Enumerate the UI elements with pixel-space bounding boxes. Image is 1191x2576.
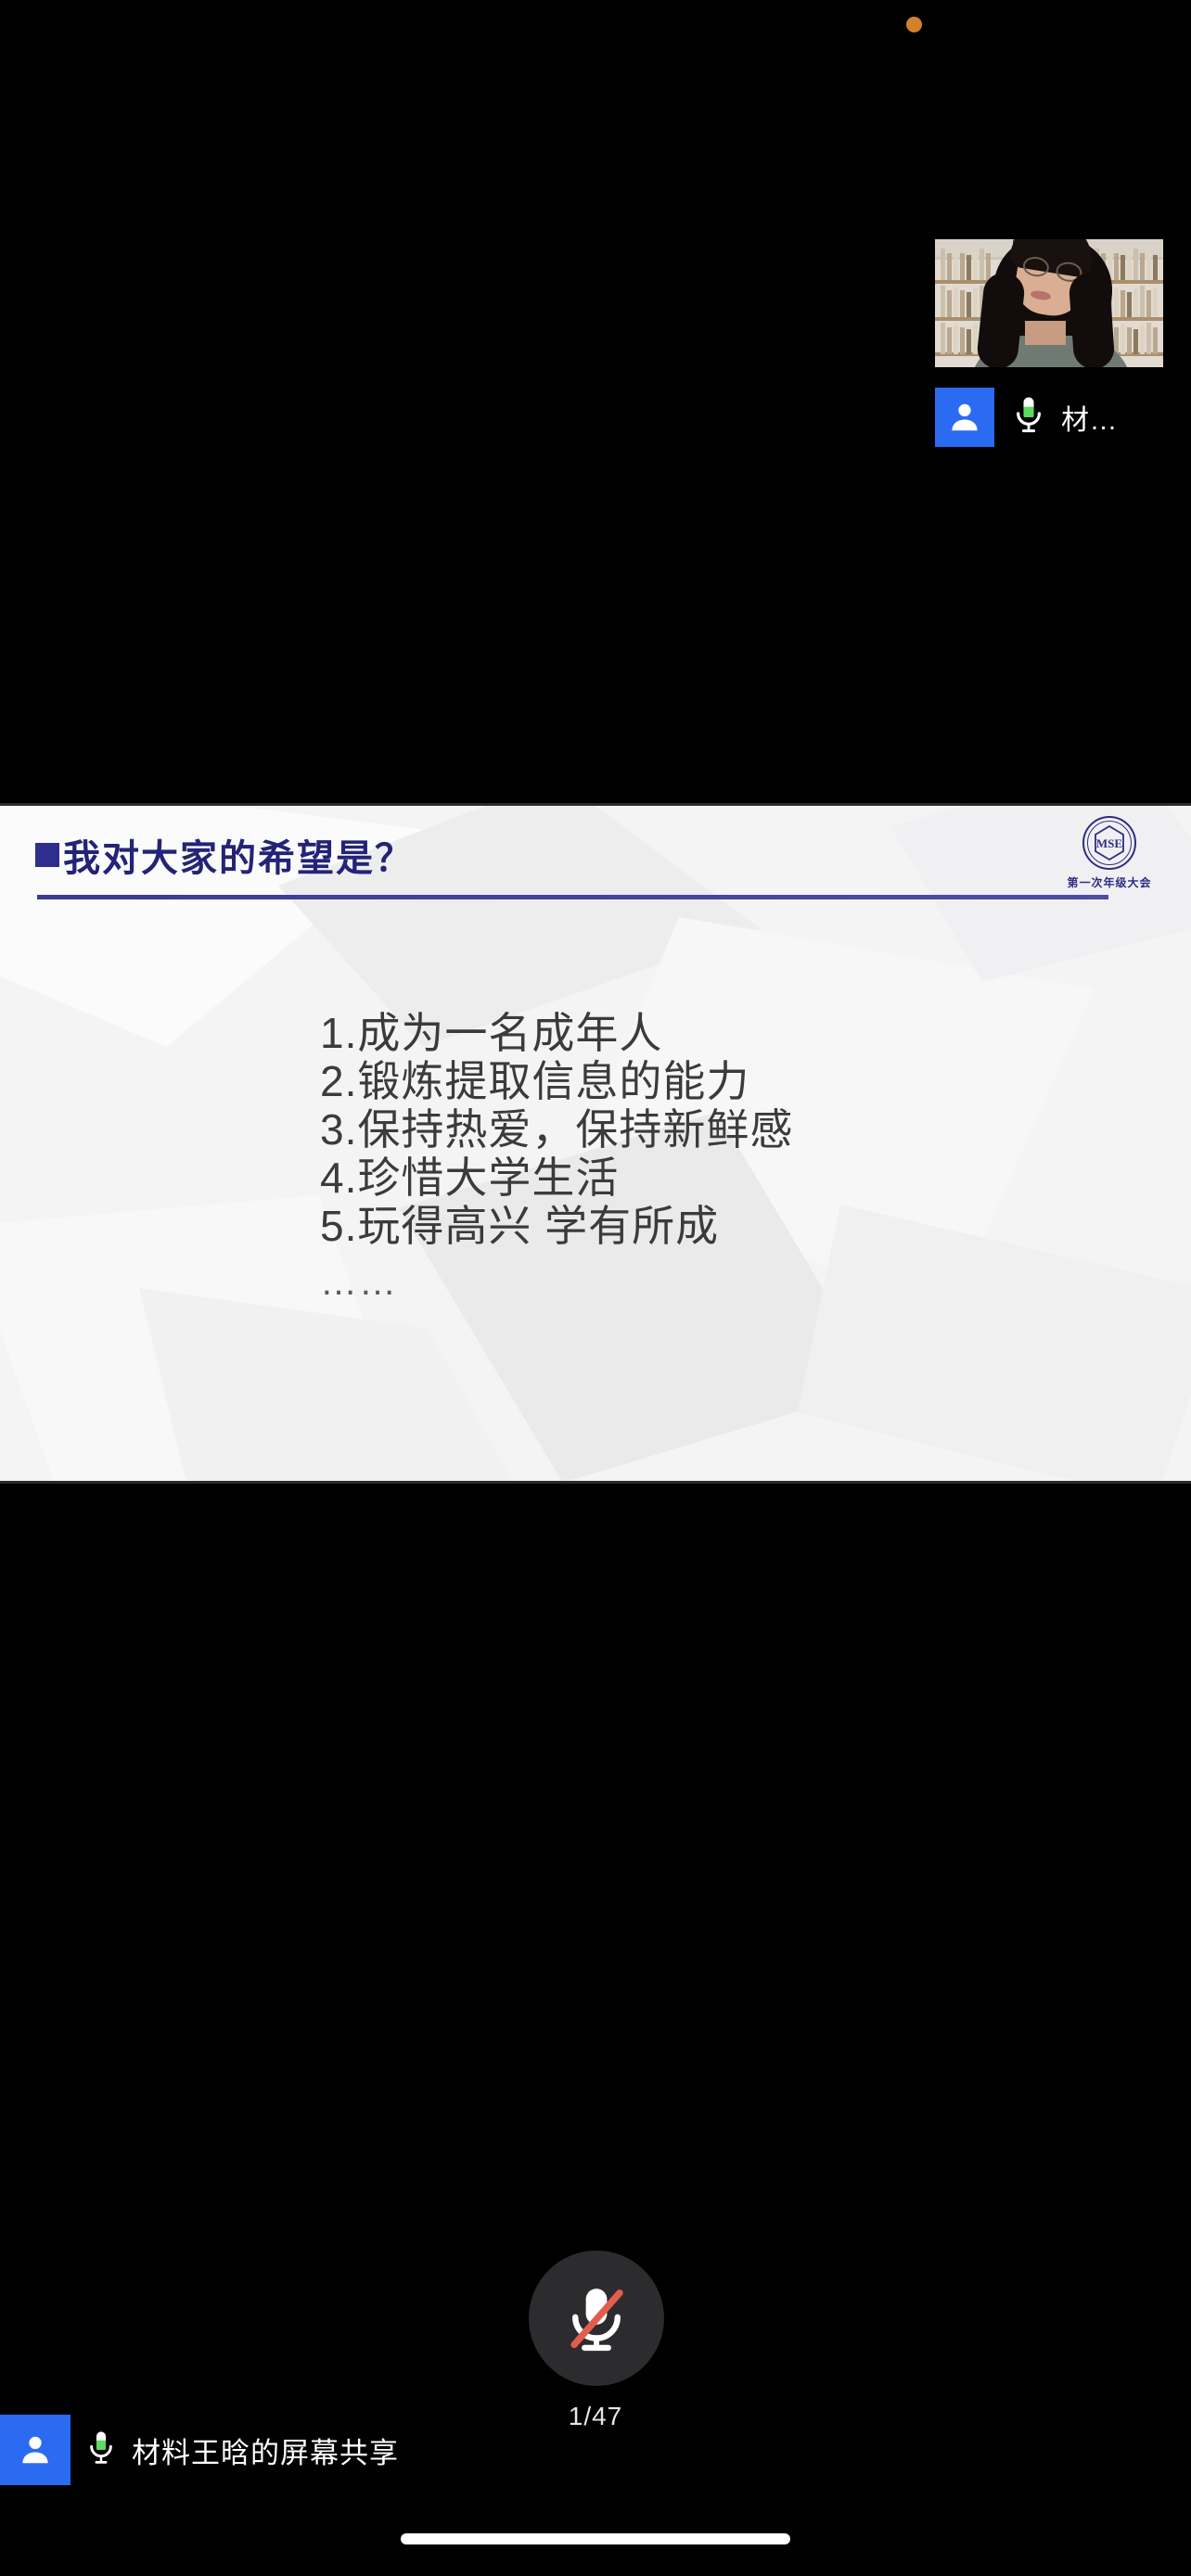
list-item: 4.珍惜大学生活 (320, 1154, 793, 1202)
home-indicator[interactable] (401, 2533, 790, 2544)
avatar (0, 2415, 70, 2485)
mse-logo-icon: MSE (1082, 815, 1137, 871)
slide-title-row: 我对大家的希望是？ (35, 828, 1156, 882)
logo-caption: 第一次年级大会 (1067, 874, 1151, 890)
books-decoration (941, 323, 978, 354)
screen-share-bar[interactable]: 材料王晗的屏幕共享 (0, 2415, 1191, 2485)
books-decoration (941, 286, 984, 317)
svg-text:MSE: MSE (1096, 836, 1122, 850)
slide-bullet-list: 1.成为一名成年人 2.锻炼提取信息的能力 3.保持热爱，保持新鲜感 4.珍惜大… (320, 1009, 793, 1250)
books-decoration (941, 249, 991, 280)
list-item: 3.保持热爱，保持新鲜感 (320, 1105, 793, 1154)
avatar (935, 388, 994, 447)
microphone-icon (85, 2430, 117, 2469)
square-bullet-icon (35, 843, 59, 867)
self-view-participant-name: 材… (1061, 397, 1118, 438)
books-decoration (1108, 323, 1158, 354)
list-item: 5.玩得高兴 学有所成 (320, 1202, 793, 1250)
self-view-video-tile[interactable] (935, 239, 1163, 367)
slide-title: 我对大家的希望是？ (63, 828, 414, 882)
person-icon (947, 400, 982, 435)
privacy-indicator-dot (906, 17, 922, 32)
slide-background-shape (798, 1205, 1191, 1484)
person-icon (18, 2432, 53, 2468)
list-item: 2.锻炼提取信息的能力 (320, 1057, 793, 1105)
microphone-muted-icon (558, 2280, 634, 2356)
microphone-icon (1011, 396, 1046, 439)
slide-ellipsis: …… (320, 1262, 398, 1304)
shared-screen-slide[interactable]: 我对大家的希望是？ MSE 第一次年级大会 1.成为一名成年人 2.锻炼提取信息… (0, 803, 1191, 1484)
video-background (935, 239, 1163, 367)
title-underline-rule (37, 895, 1108, 899)
self-view-label-row: 材… (935, 388, 1118, 447)
list-item: 1.成为一名成年人 (320, 1009, 793, 1057)
organization-logo: MSE 第一次年级大会 (1054, 815, 1165, 890)
screen-share-title: 材料王晗的屏幕共享 (132, 2429, 399, 2471)
mute-toggle-button[interactable] (529, 2251, 664, 2386)
